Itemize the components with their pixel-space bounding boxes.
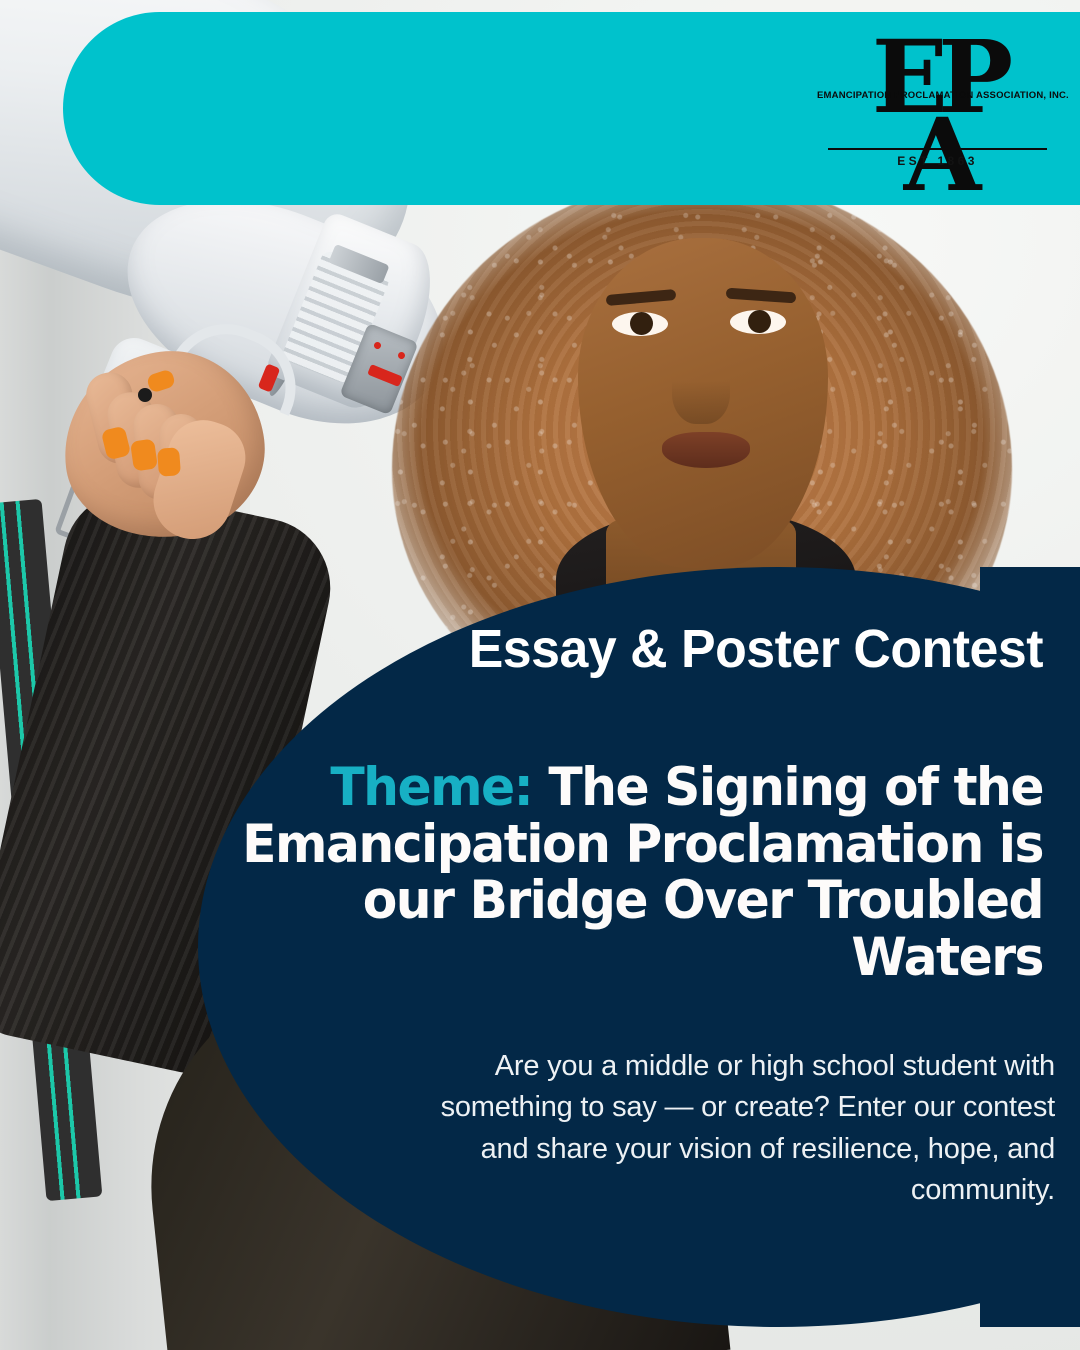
poster-canvas: Two categories. Four winners. Your story… — [0, 0, 1080, 1350]
theme-label: Theme: — [330, 757, 532, 818]
contest-title: Essay & Poster Contest — [234, 618, 1043, 680]
theme-heading: Theme: The Signing of the Emancipation P… — [219, 760, 1043, 987]
description-paragraph: Are you a middle or high school student … — [390, 1046, 1055, 1212]
main-content: Essay & Poster Contest Theme: The Signin… — [0, 0, 1080, 1350]
